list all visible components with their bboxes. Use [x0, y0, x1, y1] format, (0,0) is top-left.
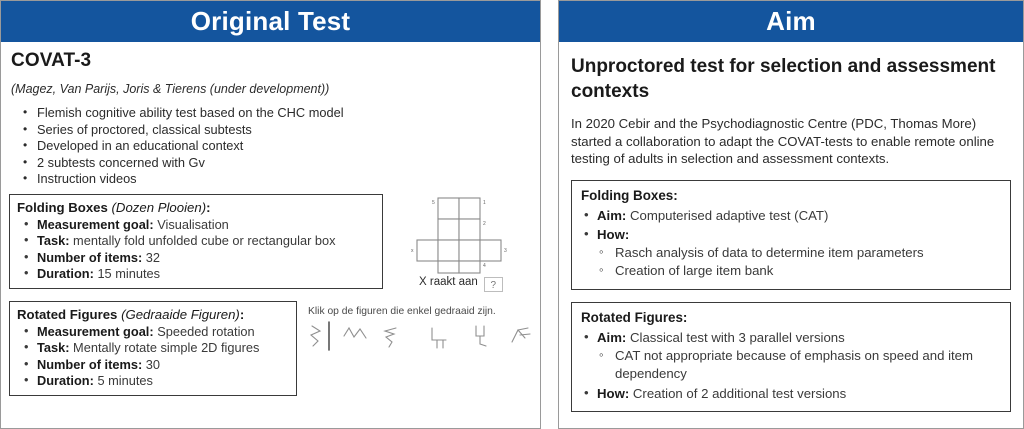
aim-folding-boxes-how-sublist: Rasch analysis of data to determine item…	[595, 244, 1001, 281]
list-item: Developed in an educational context	[9, 138, 532, 155]
rotated-figures-title-colon: :	[240, 307, 244, 322]
list-item: How:	[581, 225, 1001, 244]
aim-paragraph: In 2020 Cebir and the Psychodiagnostic C…	[571, 115, 1011, 168]
rotated-figures-title-en: Rotated Figures	[17, 307, 117, 322]
panel-aim: Aim Unproctored test for selection and a…	[558, 0, 1024, 429]
cube-face-label-5: 5	[432, 200, 435, 206]
cube-face-label-x: x	[411, 248, 414, 254]
aim-folding-boxes-title: Folding Boxes:	[581, 188, 1001, 203]
rotated-figures-items-icon	[304, 320, 539, 364]
list-item: Aim: Computerised adaptive test (CAT)	[581, 206, 1001, 225]
list-item: Duration: 5 minutes	[17, 373, 289, 390]
folding-boxes-title-en: Folding Boxes	[17, 200, 108, 215]
spec-label: Number of items:	[37, 357, 142, 372]
aim-rotated-figures-box: Rotated Figures: Aim: Classical test wit…	[571, 302, 1011, 412]
rotated-figures-spec-list: Measurement goal: Speeded rotation Task:…	[17, 324, 289, 390]
cube-face-label-3: 3	[504, 248, 507, 254]
how-value: Creation of 2 additional test versions	[633, 386, 846, 401]
list-item: Number of items: 30	[17, 357, 289, 374]
slide-root: Original Test COVAT-3 (Magez, Van Parijs…	[0, 0, 1024, 429]
list-item: How: Creation of 2 additional test versi…	[581, 384, 1001, 403]
rotated-figures-detail-box: Rotated Figures (Gedraaide Figuren): Mea…	[9, 301, 297, 396]
test-feature-list: Flemish cognitive ability test based on …	[9, 105, 532, 188]
list-item: CAT not appropriate because of emphasis …	[595, 347, 1001, 384]
how-label: How:	[597, 386, 629, 401]
aim-value: Classical test with 3 parallel versions	[630, 330, 845, 345]
list-item: Measurement goal: Speeded rotation	[17, 324, 289, 341]
spec-value: 32	[146, 250, 160, 265]
list-item: Task: mentally fold unfolded cube or rec…	[17, 233, 375, 250]
rotated-figures-example-figure: Klik op de figuren die enkel gedraaid zi…	[304, 306, 539, 376]
list-item: Aim: Classical test with 3 parallel vers…	[581, 328, 1001, 347]
spec-label: Measurement goal:	[37, 217, 154, 232]
aim-value: Computerised adaptive test (CAT)	[630, 208, 828, 223]
cube-caption-text: X raakt aan	[419, 276, 478, 288]
aim-folding-boxes-list: Aim: Computerised adaptive test (CAT) Ho…	[581, 206, 1001, 244]
spec-value: Speeded rotation	[157, 324, 254, 339]
spec-value: mentally fold unfolded cube or rectangul…	[73, 233, 336, 248]
list-item: Series of proctored, classical subtests	[9, 122, 532, 139]
aim-rotated-figures-list: Aim: Classical test with 3 parallel vers…	[581, 328, 1001, 347]
aim-label: Aim:	[597, 330, 626, 345]
folding-boxes-example-figure: 5 1 2 3 4 x X raakt aan?	[393, 192, 538, 297]
subtest-area: Folding Boxes (Dozen Plooien): Measureme…	[1, 188, 540, 406]
how-label: How:	[597, 227, 629, 242]
test-title: COVAT-3	[11, 50, 532, 72]
list-item: Measurement goal: Visualisation	[17, 217, 375, 234]
spec-value: Mentally rotate simple 2D figures	[73, 340, 259, 355]
spec-label: Task:	[37, 340, 69, 355]
list-item: Duration: 15 minutes	[17, 266, 375, 283]
folding-boxes-detail-box: Folding Boxes (Dozen Plooien): Measureme…	[9, 194, 383, 289]
folding-boxes-title-colon: :	[206, 200, 210, 215]
spec-label: Task:	[37, 233, 69, 248]
rotated-figures-instruction: Klik op de figuren die enkel gedraaid zi…	[308, 306, 539, 317]
cube-face-label-2: 2	[483, 221, 486, 227]
spec-value: 15 minutes	[97, 266, 160, 281]
list-item: Creation of large item bank	[595, 262, 1001, 281]
spec-label: Measurement goal:	[37, 324, 154, 339]
list-item: Instruction videos	[9, 171, 532, 188]
aim-title: Unproctored test for selection and asses…	[571, 54, 1011, 104]
aim-rotated-figures-how-list: How: Creation of 2 additional test versi…	[581, 384, 1001, 403]
original-test-intro: COVAT-3 (Magez, Van Parijs, Joris & Tier…	[1, 42, 540, 188]
aim-body: Unproctored test for selection and asses…	[559, 42, 1023, 428]
spec-value: 5 minutes	[97, 373, 152, 388]
list-item: 2 subtests concerned with Gv	[9, 155, 532, 172]
original-test-body: COVAT-3 (Magez, Van Parijs, Joris & Tier…	[1, 42, 540, 428]
aim-rotated-figures-aim-sublist: CAT not appropriate because of emphasis …	[595, 347, 1001, 384]
rotated-figures-title: Rotated Figures (Gedraaide Figuren):	[17, 306, 289, 323]
folding-boxes-title-nl: (Dozen Plooien)	[112, 200, 207, 215]
aim-label: Aim:	[597, 208, 626, 223]
panel-header-original-test: Original Test	[1, 1, 540, 42]
list-item: Task: Mentally rotate simple 2D figures	[17, 340, 289, 357]
rotated-figures-title-nl: (Gedraaide Figuren)	[121, 307, 240, 322]
aim-rotated-figures-title: Rotated Figures:	[581, 310, 1001, 325]
spec-value: 30	[146, 357, 160, 372]
aim-folding-boxes-box: Folding Boxes: Aim: Computerised adaptiv…	[571, 180, 1011, 290]
panel-header-aim: Aim	[559, 1, 1023, 42]
list-item: Number of items: 32	[17, 250, 375, 267]
list-item: Flemish cognitive ability test based on …	[9, 105, 532, 122]
cube-net-icon: 5 1 2 3 4 x	[393, 192, 538, 274]
cube-face-label-4: 4	[483, 263, 486, 269]
test-authors: (Magez, Van Parijs, Joris & Tierens (und…	[11, 82, 532, 96]
folding-boxes-title: Folding Boxes (Dozen Plooien):	[17, 199, 375, 216]
list-item: Rasch analysis of data to determine item…	[595, 244, 1001, 263]
cube-face-label-1: 1	[483, 200, 486, 206]
spec-label: Duration:	[37, 373, 94, 388]
spec-label: Number of items:	[37, 250, 142, 265]
cube-question-caption: X raakt aan?	[419, 276, 503, 292]
spec-label: Duration:	[37, 266, 94, 281]
cube-answer-box[interactable]: ?	[484, 277, 503, 292]
folding-boxes-spec-list: Measurement goal: Visualisation Task: me…	[17, 217, 375, 283]
spec-value: Visualisation	[157, 217, 229, 232]
panel-original-test: Original Test COVAT-3 (Magez, Van Parijs…	[0, 0, 541, 429]
